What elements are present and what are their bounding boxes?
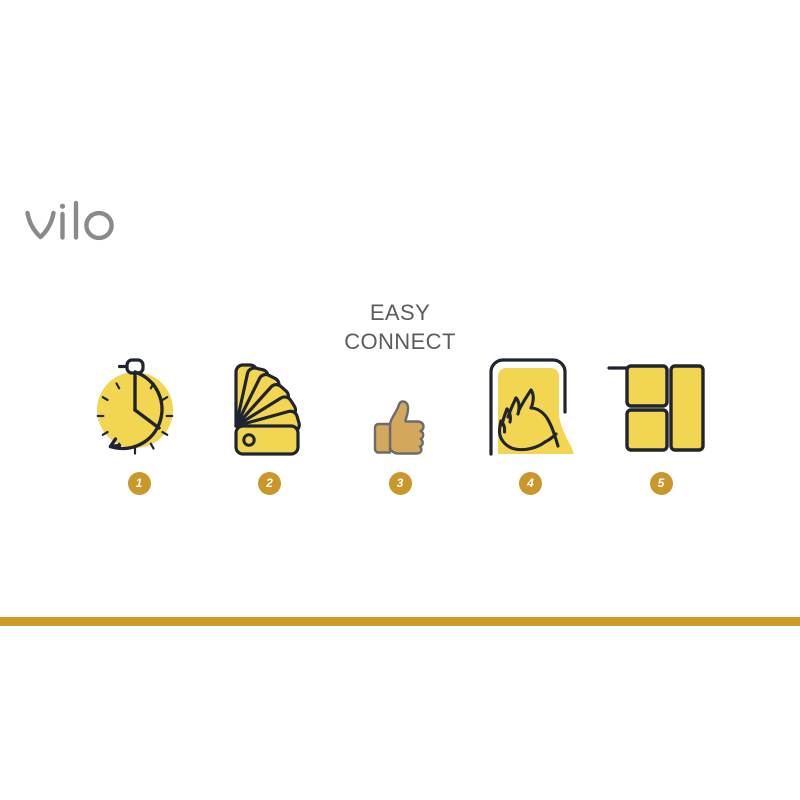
panel-bottom-left: [627, 410, 667, 450]
gold-divider-bar: [0, 617, 800, 626]
step-5-artwork: [605, 308, 717, 458]
step-1-artwork: [83, 308, 195, 458]
hand-wiping-cloth-icon: [479, 354, 583, 458]
step-item-1[interactable]: 1: [80, 300, 198, 495]
steps-row: 1 2 EASY CONN: [80, 300, 720, 495]
thumbs-up-icon: [365, 396, 435, 458]
panel-layout-icon: [609, 358, 713, 458]
step-item-2[interactable]: 2: [211, 300, 329, 495]
stopwatch-icon: [89, 350, 189, 458]
step-badge-4: 4: [519, 472, 542, 495]
panel-top-left: [627, 366, 667, 406]
panel-right-tall: [671, 366, 703, 450]
logo-dot: [60, 204, 65, 209]
step-2-artwork: [214, 308, 326, 458]
vilo-wordmark-icon: [24, 200, 116, 246]
step-item-4[interactable]: 4: [472, 300, 590, 495]
step-badge-3: 3: [389, 472, 412, 495]
step-badge-2: 2: [258, 472, 281, 495]
step-4-artwork: [475, 308, 587, 458]
step-badge-1: 1: [128, 472, 151, 495]
step-item-5[interactable]: 5: [602, 300, 720, 495]
brand-logo: [24, 200, 116, 246]
step-3-artwork: [344, 308, 456, 458]
step-item-3[interactable]: EASY CONNECT 3: [341, 300, 459, 495]
logo-o: [86, 213, 111, 238]
color-swatch-fan-icon: [220, 350, 320, 458]
step-badge-5: 5: [650, 472, 673, 495]
